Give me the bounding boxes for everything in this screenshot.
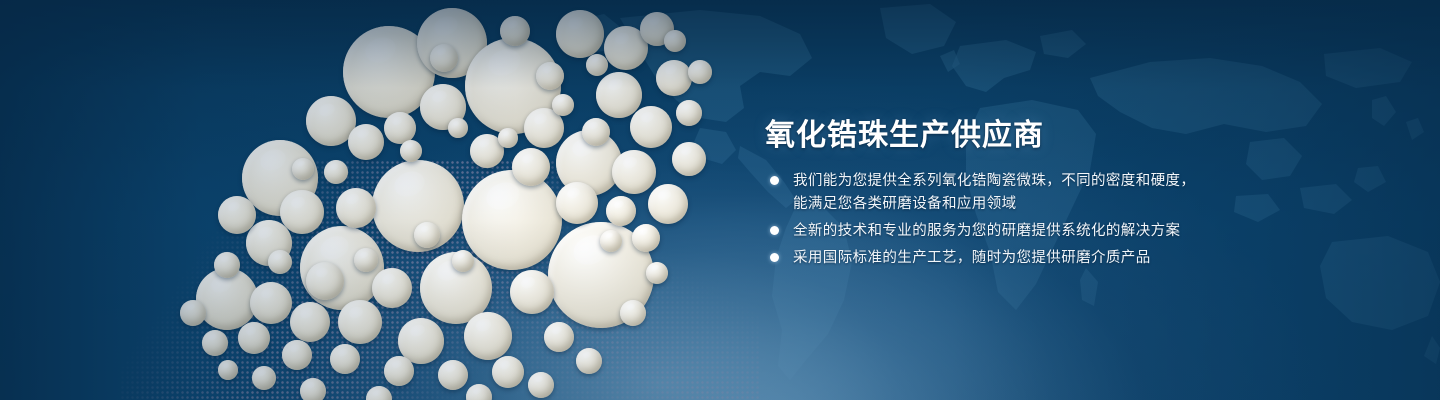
banner-copy: 氧化锆珠生产供应商 我们能为您提供全系列氧化锆陶瓷微珠，不同的密度和硬度， 能满…	[765, 0, 1305, 400]
feature-list: 我们能为您提供全系列氧化锆陶瓷微珠，不同的密度和硬度， 能满足您各类研磨设备和应…	[767, 170, 1287, 274]
list-item-text: 采用国际标准的生产工艺，随时为您提供研磨介质产品	[793, 250, 1151, 266]
list-item: 全新的技术和专业的服务为您的研磨提供系统化的解决方案	[767, 220, 1287, 243]
list-item-line1: 采用国际标准的生产工艺，随时为您提供研磨介质产品	[793, 250, 1151, 266]
list-item-line1: 全新的技术和专业的服务为您的研磨提供系统化的解决方案	[793, 223, 1180, 239]
list-item-line2: 能满足您各类研磨设备和应用领域	[793, 193, 1287, 216]
page-title: 氧化锆珠生产供应商	[765, 110, 1044, 154]
hero-banner: 氧化锆珠生产供应商 我们能为您提供全系列氧化锆陶瓷微珠，不同的密度和硬度， 能满…	[0, 0, 1440, 400]
bullet-dot-icon	[770, 226, 779, 235]
bullet-dot-icon	[770, 253, 779, 262]
list-item: 采用国际标准的生产工艺，随时为您提供研磨介质产品	[767, 247, 1287, 270]
list-item-text: 全新的技术和专业的服务为您的研磨提供系统化的解决方案	[793, 223, 1180, 239]
list-item-text: 我们能为您提供全系列氧化锆陶瓷微珠，不同的密度和硬度， 能满足您各类研磨设备和应…	[793, 173, 1287, 216]
list-item: 我们能为您提供全系列氧化锆陶瓷微珠，不同的密度和硬度， 能满足您各类研磨设备和应…	[767, 170, 1287, 216]
bullet-dot-icon	[770, 176, 779, 185]
list-item-line1: 我们能为您提供全系列氧化锆陶瓷微珠，不同的密度和硬度，	[793, 173, 1195, 189]
